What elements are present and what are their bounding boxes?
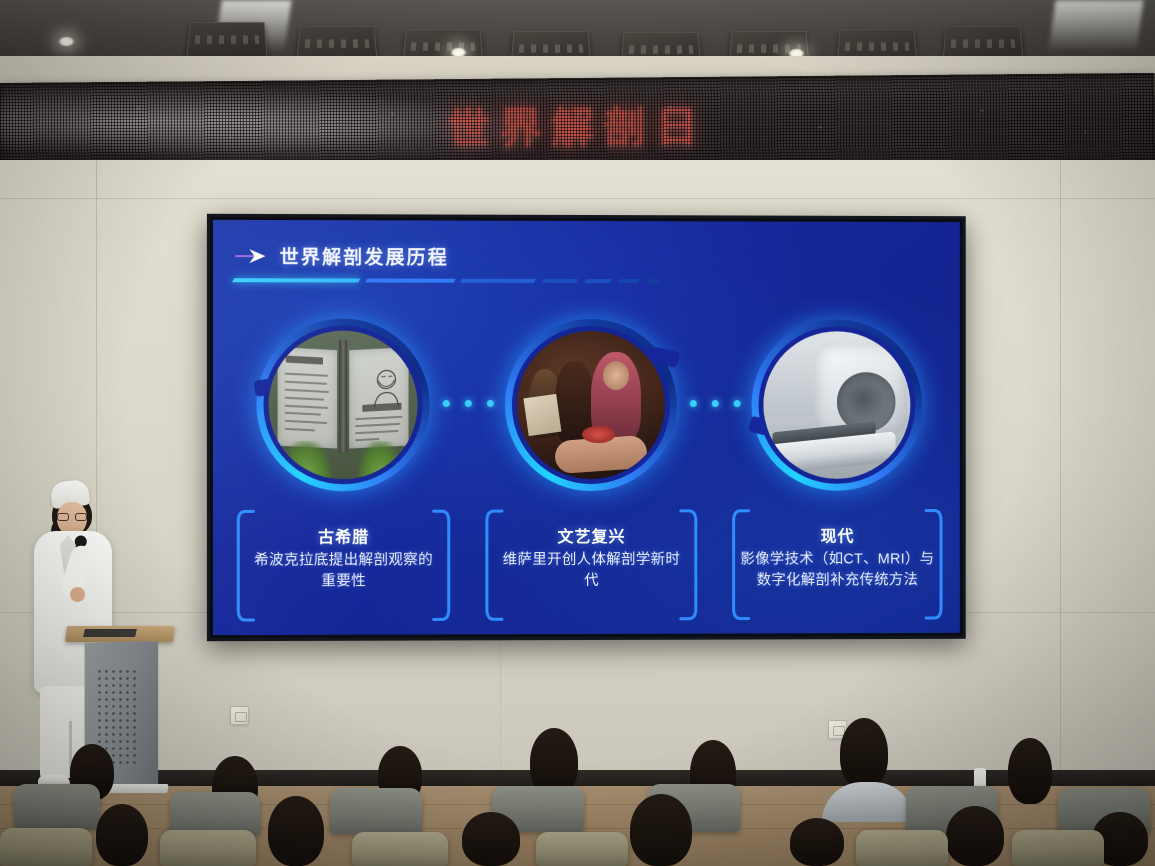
caption-body: 维萨里开创人体解剖学新时代 (484, 550, 699, 592)
three-dots-icon (690, 400, 741, 407)
audience-head (96, 804, 148, 866)
audience-head (1008, 738, 1052, 804)
audience-chair (14, 784, 100, 828)
caption-card-1[interactable]: 古希腊 希波克拉底提出解剖观察的重要性 (235, 509, 452, 592)
led-sparkle-overlay (0, 73, 1155, 169)
bracket-right-icon (432, 509, 452, 591)
ct-mri-scanner-photo (763, 331, 910, 479)
audience-head (790, 818, 844, 866)
audience-head (840, 718, 888, 788)
renaissance-dissection-painting-photo (517, 331, 665, 479)
bracket-right-icon (679, 509, 699, 591)
lecture-hall-scene: 世界解剖日 世界解剖日 世界解剖发展历程 (0, 0, 1155, 866)
presentation-slide: 世界解剖发展历程 (213, 220, 960, 635)
bracket-right-icon (924, 509, 944, 591)
audience-chair (536, 832, 628, 866)
timeline-circle-3[interactable] (752, 319, 923, 491)
audience-head (946, 806, 1004, 866)
audience-head (630, 794, 692, 866)
audience-chair (0, 828, 92, 866)
caption-card-2[interactable]: 文艺复兴 维萨里开创人体解剖学新时代 (484, 509, 699, 592)
audience-chair (330, 788, 422, 834)
caption-title: 文艺复兴 (484, 523, 699, 547)
timeline-circle-1[interactable] (256, 318, 429, 491)
caption-card-3[interactable]: 现代 影像学技术（如CT、MRI）与数字化解剖补充传统方法 (731, 509, 944, 591)
projection-screen: 世界解剖发展历程 (207, 214, 966, 641)
audience-shoulders (822, 782, 914, 822)
title-divider (233, 277, 933, 286)
timeline-circle-2[interactable] (505, 319, 677, 491)
hippocratic-oath-stone-book-photo (269, 331, 418, 480)
ceiling-panel (186, 22, 267, 59)
slide-title: 世界解剖发展历程 (280, 242, 449, 270)
audience-chair (856, 830, 948, 866)
audience-head (268, 796, 324, 866)
ceiling-spotlight (58, 36, 75, 47)
hand (70, 587, 85, 602)
audience-chair (1012, 830, 1104, 866)
led-banner: 世界解剖日 世界解剖日 (0, 73, 1155, 169)
audience (0, 700, 1155, 866)
audience-head (462, 812, 520, 866)
audience-chair (160, 830, 256, 866)
audience-chair (352, 832, 448, 866)
slide-header: 世界解剖发展历程 (235, 242, 449, 270)
timeline-circles (213, 318, 960, 499)
glasses-icon (57, 513, 87, 521)
caption-title: 现代 (731, 522, 944, 546)
bracket-left-icon (235, 509, 255, 592)
bracket-left-icon (484, 509, 504, 591)
arrow-right-icon (235, 247, 269, 265)
three-dots-icon (443, 400, 494, 407)
caption-body: 希波克拉底提出解剖观察的重要性 (235, 550, 452, 592)
podium-document (83, 629, 137, 637)
timeline-captions: 古希腊 希波克拉底提出解剖观察的重要性 文艺复兴 维萨里开创人体解剖学新时代 (213, 509, 960, 631)
portrait-sketch-icon (369, 365, 403, 407)
caption-title: 古希腊 (235, 523, 452, 547)
bracket-left-icon (731, 509, 751, 591)
caption-body: 影像学技术（如CT、MRI）与数字化解剖补充传统方法 (731, 549, 944, 590)
